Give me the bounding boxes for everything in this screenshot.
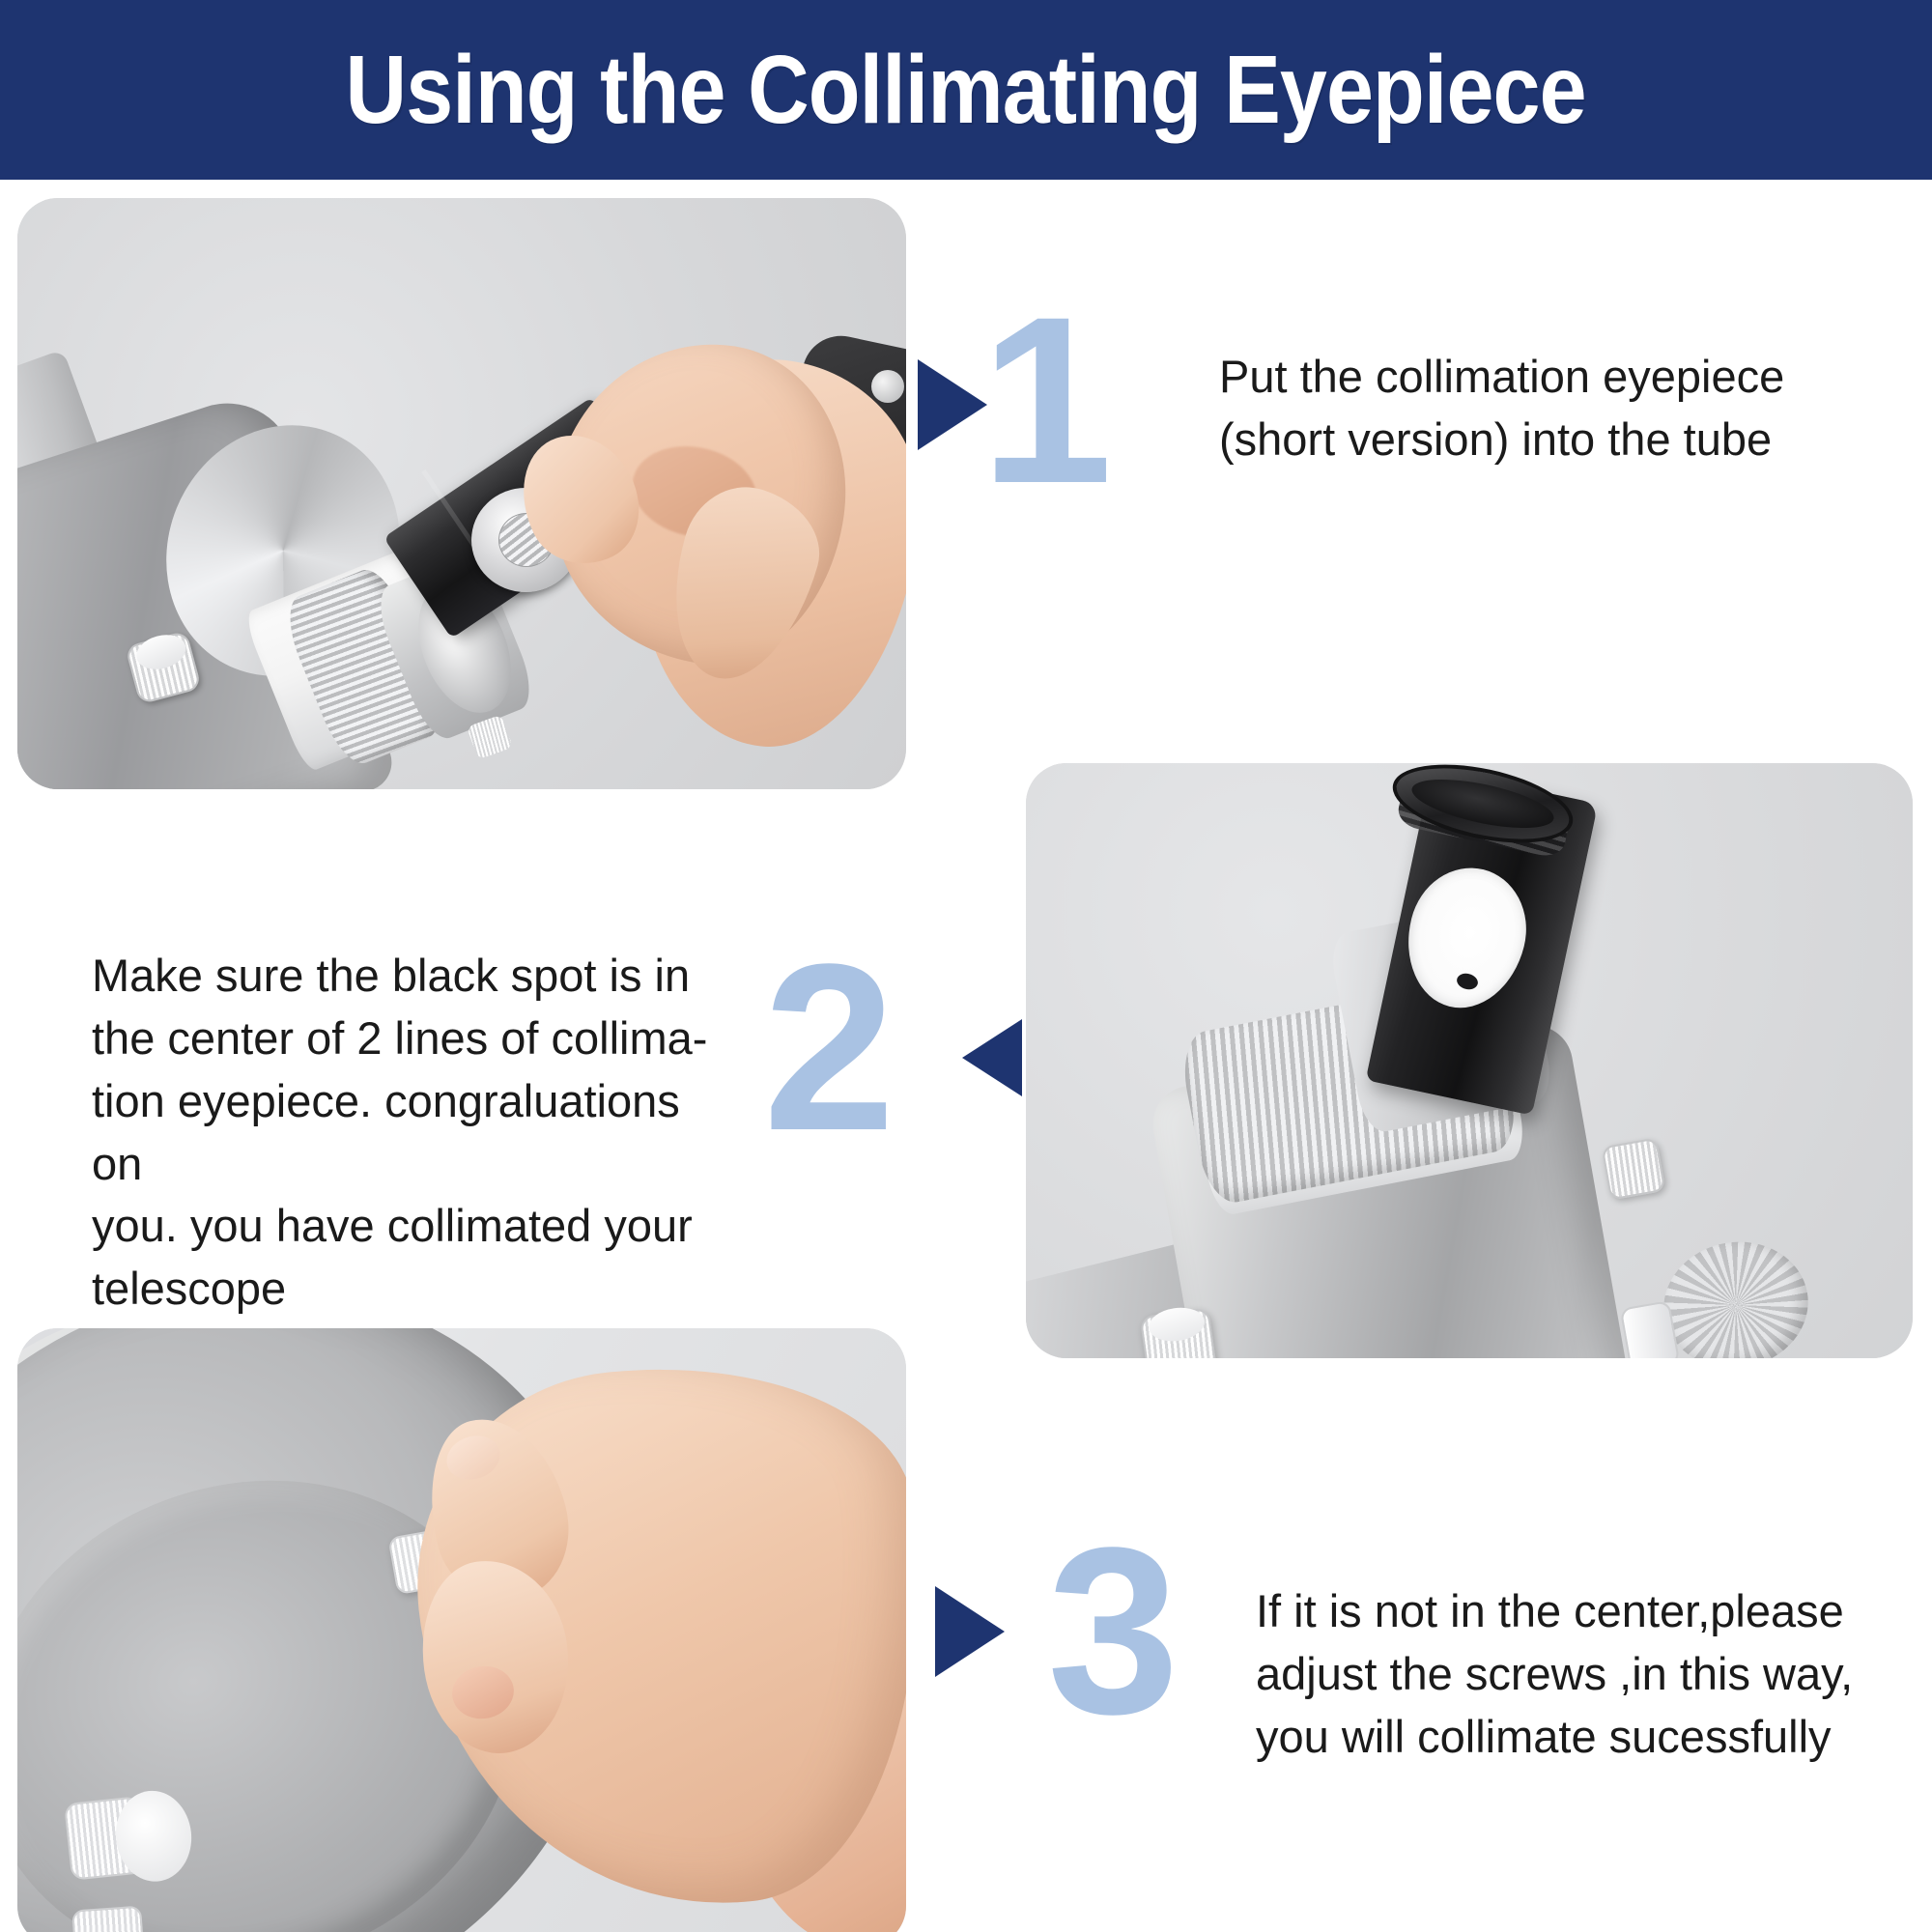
step-3-photo-panel [17,1328,906,1932]
step-1-photo-panel [17,198,906,789]
focus-wheel [1654,1231,1818,1358]
step-3-photo [17,1328,906,1932]
step-2-text: Make sure the black spot is in the cente… [92,945,739,1321]
step-1-arrow-icon [918,359,987,450]
sleeve-button [871,370,904,403]
step-3-arrow-icon [935,1586,1005,1677]
telescope-focuser-scene [17,198,906,789]
infographic-page: Using the Collimating Eyepiece [0,0,1932,1932]
step-2-photo-panel [1026,763,1913,1358]
step-1-text: Put the collimation eyepiece (short vers… [1219,346,1924,471]
collimation-screw-tertiary [71,1906,145,1932]
step-1-photo [17,198,906,789]
page-title: Using the Collimating Eyepiece [346,35,1586,146]
step-1-number: 1 [980,282,1113,520]
collimation-screw-secondary [64,1796,147,1881]
page-header: Using the Collimating Eyepiece [0,0,1932,180]
step-3-number: 3 [1047,1513,1179,1750]
mirror-cell-adjust-scene [17,1328,906,1932]
eyepiece-seated-scene [1026,763,1913,1358]
step-3-text: If it is not in the center,please adjust… [1256,1580,1932,1769]
finder-adjust-knob [1140,1307,1218,1358]
step-2-photo [1026,763,1913,1358]
step-2-arrow-icon [962,1019,1022,1096]
step-2-number: 2 [763,929,895,1167]
focuser-thumbscrew [1602,1137,1666,1200]
